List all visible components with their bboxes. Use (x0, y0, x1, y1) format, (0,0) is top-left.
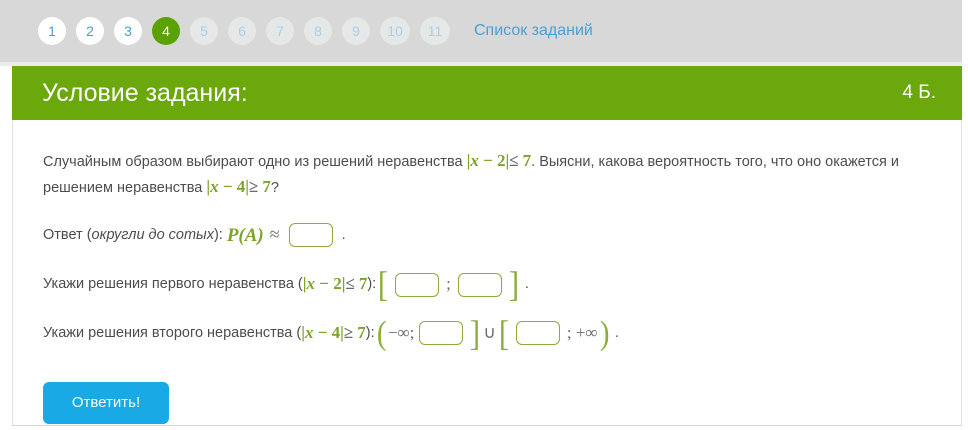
minus-op: − (313, 323, 331, 342)
pagination-strip: 1 2 3 4 5 6 7 8 9 10 11 Список заданий (0, 0, 962, 62)
task-page: 1 2 3 4 5 6 7 8 9 10 11 Список заданий У… (0, 0, 968, 430)
page-button-8[interactable]: 8 (304, 17, 332, 45)
page-button-7[interactable]: 7 (266, 17, 294, 45)
bracket-close-left-icon: ] (470, 319, 480, 348)
relation-leq: ≤ (509, 151, 518, 170)
page-button-2[interactable]: 2 (76, 17, 104, 45)
answer-period: . (342, 224, 346, 246)
second-interval-right-input[interactable] (516, 321, 560, 345)
task-content-panel: Случайным образом выбирают одно из решен… (12, 120, 962, 426)
inequality-two-rhs: 7 (262, 177, 271, 196)
inequality-one-inline: |x − 2| (467, 151, 510, 170)
page-title: Условие задания: (42, 79, 248, 108)
answer-label-prefix: Ответ ( (43, 224, 92, 246)
first-inequality-row: Укажи решения первого неравенства (|x − … (43, 270, 931, 299)
second-row-label-tail: ): (366, 322, 375, 344)
statement-text-part3: ? (271, 180, 279, 196)
inequality-two-inline: |x − 4| (206, 177, 249, 196)
constant: 2 (333, 274, 342, 293)
approx-symbol: ≈ (270, 221, 280, 249)
points-badge: 4 Б. (902, 82, 936, 104)
second-interval-left-input[interactable] (419, 321, 463, 345)
second-row-rhs: 7 (357, 320, 366, 346)
union-symbol-icon: ∪ (483, 320, 495, 346)
first-row-label: Укажи решения первого неравенства ( (43, 273, 303, 295)
page-button-1[interactable]: 1 (38, 17, 66, 45)
first-row-label-tail: ): (367, 273, 376, 295)
answer-label-italic: округли до сотых (92, 224, 214, 246)
answer-row: Ответ (округли до сотых): P(A) ≈ . (43, 221, 931, 250)
page-button-9[interactable]: 9 (342, 17, 370, 45)
minus-op: − (479, 151, 497, 170)
page-button-6[interactable]: 6 (228, 17, 256, 45)
first-interval-right-input[interactable] (458, 273, 502, 297)
second-row-period: . (615, 322, 619, 344)
relation-geq: ≥ (249, 177, 258, 196)
page-button-10[interactable]: 10 (380, 17, 410, 45)
probability-input[interactable] (289, 223, 333, 247)
constant: 4 (332, 323, 341, 342)
probability-symbol: P(A) (227, 221, 264, 250)
bracket-close-icon: ] (509, 270, 519, 299)
variable-x: x (307, 274, 316, 293)
submit-answer-button[interactable]: Ответить! (43, 382, 169, 424)
first-interval-left-input[interactable] (395, 273, 439, 297)
first-row-period: . (525, 273, 529, 295)
minus-op: − (219, 177, 237, 196)
first-row-inequality: |x − 2| (303, 271, 346, 297)
relation-leq: ≤ (345, 271, 354, 297)
variable-x: x (210, 177, 219, 196)
answer-label-suffix: ): (214, 224, 223, 246)
task-body: Случайным образом выбирают одно из решен… (13, 120, 961, 424)
positive-infinity-label: ; +∞ (567, 320, 598, 346)
statement-text-part1: Случайным образом выбирают одно из решен… (43, 154, 467, 170)
bracket-open-right-icon: [ (499, 319, 509, 348)
second-inequality-row: Укажи решения второго неравенства (|x − … (43, 319, 931, 348)
page-button-4-current[interactable]: 4 (152, 17, 180, 45)
variable-x: x (470, 151, 479, 170)
constant: 4 (237, 177, 246, 196)
page-button-3[interactable]: 3 (114, 17, 142, 45)
pagination-list: 1 2 3 4 5 6 7 8 9 10 11 Список заданий (38, 17, 593, 45)
task-header-bar: Условие задания: 4 Б. (12, 66, 962, 120)
relation-geq: ≥ (344, 320, 353, 346)
minus-op: − (315, 274, 333, 293)
first-row-rhs: 7 (359, 271, 368, 297)
inequality-one-rhs: 7 (523, 151, 532, 170)
constant: 2 (497, 151, 506, 170)
paren-close-icon: ) (599, 320, 609, 347)
task-list-link[interactable]: Список заданий (474, 22, 593, 40)
second-row-inequality: |x − 4| (301, 320, 344, 346)
second-row-label: Укажи решения второго неравенства ( (43, 322, 301, 344)
interval-separator: ; (446, 271, 451, 297)
paren-open-icon: ( (376, 320, 386, 347)
page-button-11[interactable]: 11 (420, 17, 450, 45)
page-button-5[interactable]: 5 (190, 17, 218, 45)
bracket-open-icon: [ (378, 270, 388, 299)
negative-infinity-label: −∞; (388, 320, 414, 346)
task-statement: Случайным образом выбирают одно из решен… (43, 148, 931, 201)
